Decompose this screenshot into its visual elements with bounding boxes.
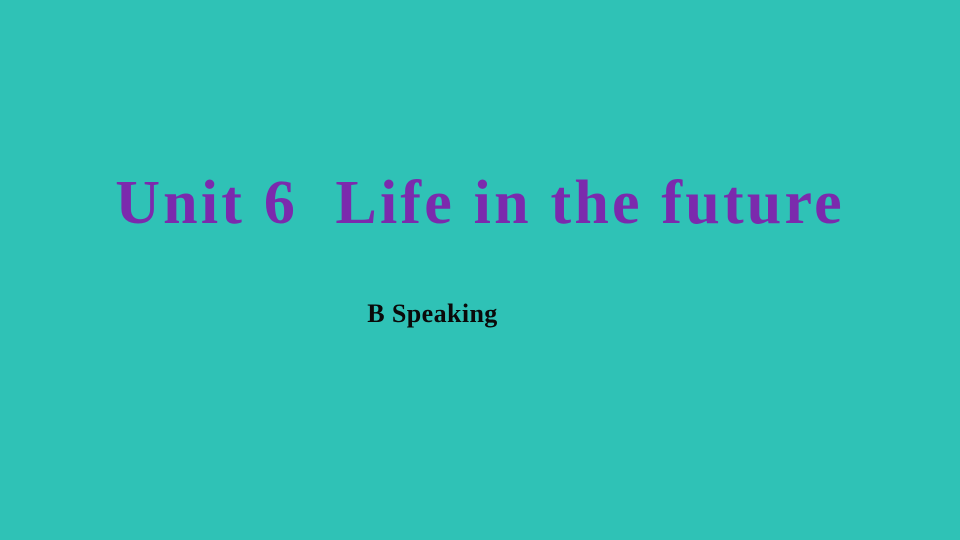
slide-body-area (0, 345, 960, 540)
presentation-slide: Unit 6 Life in the future B Speaking (0, 0, 960, 540)
slide-subtitle-container: B Speaking (0, 298, 865, 330)
slide-subtitle: B Speaking (367, 298, 497, 330)
slide-title-container: Unit 6 Life in the future (0, 168, 960, 238)
page-title: Unit 6 Life in the future (115, 168, 845, 238)
